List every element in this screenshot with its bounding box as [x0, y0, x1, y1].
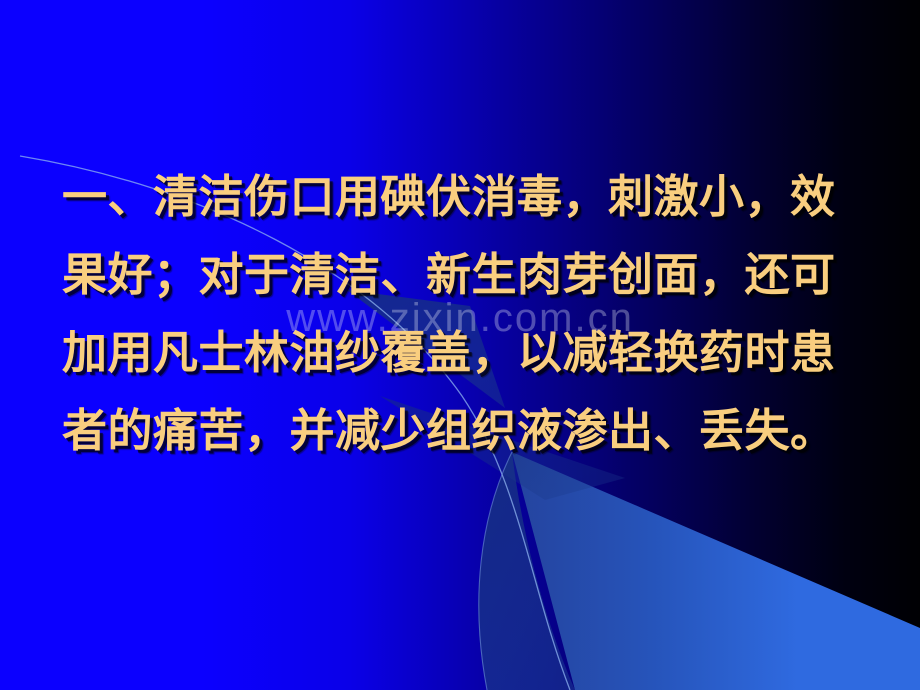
text-line-4: 者的痛苦，并减少组织液渗出、丢失。 [62, 392, 874, 470]
text-line-1: 一、清洁伤口用碘伏消毒，刺激小，效 [62, 158, 874, 236]
slide-canvas: www.zixin.com.cn 一、清洁伤口用碘伏消毒，刺激小，效 果好；对于… [0, 0, 920, 690]
text-line-3: 加用凡士林油纱覆盖，以减轻换药时患 [62, 314, 874, 392]
slide-body-text: 一、清洁伤口用碘伏消毒，刺激小，效 果好；对于清洁、新生肉芽创面，还可 加用凡士… [62, 158, 874, 470]
text-line-2: 果好；对于清洁、新生肉芽创面，还可 [62, 236, 874, 314]
